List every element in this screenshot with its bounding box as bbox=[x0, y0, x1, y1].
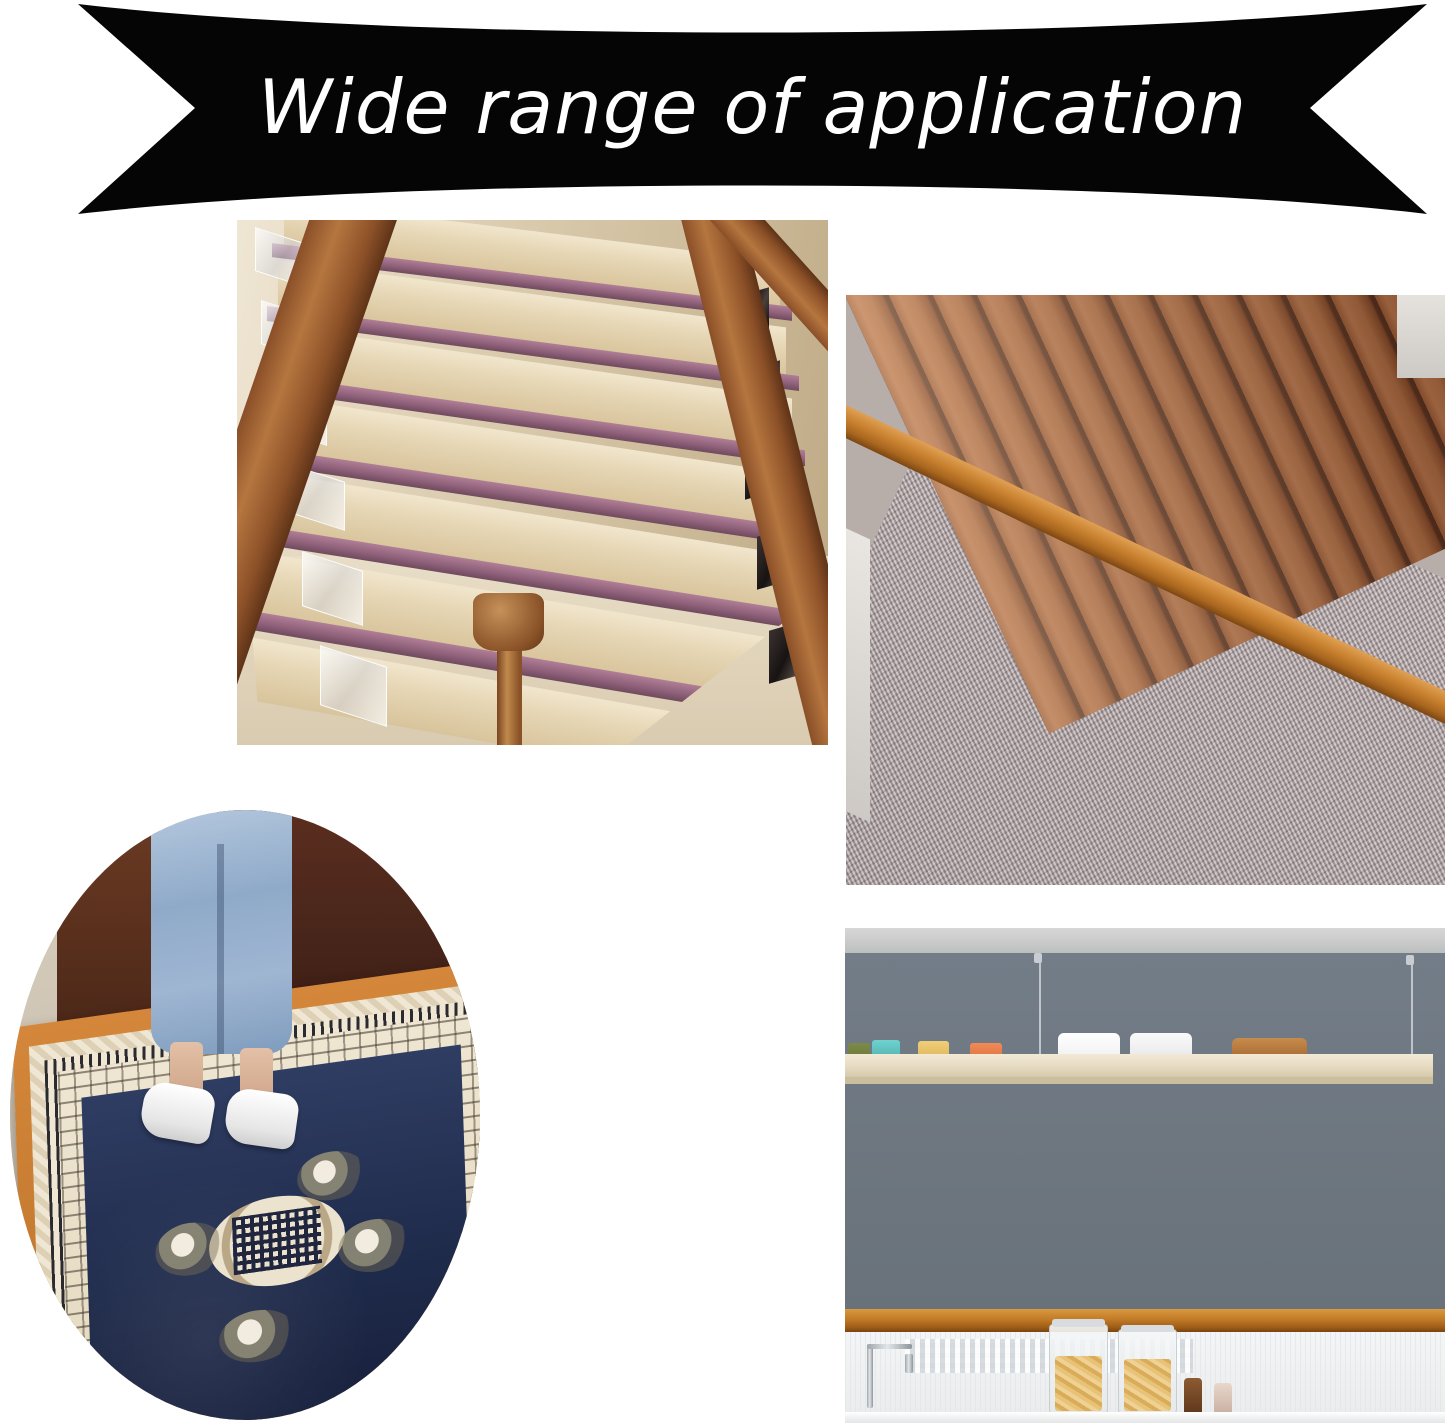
panel-kitchen: Kitchen bbox=[845, 928, 1445, 1423]
faucet-arm bbox=[867, 1344, 912, 1349]
rug-center-medallion bbox=[208, 1187, 347, 1295]
floor-wall-right bbox=[1397, 295, 1445, 378]
shelf-wire-cap bbox=[1034, 953, 1042, 963]
pepper-mill-dark bbox=[1184, 1378, 1202, 1415]
faucet-handle bbox=[905, 1354, 913, 1374]
banner: Wide range of application bbox=[60, 0, 1445, 218]
panel-carpet: carpet bbox=[10, 810, 480, 1420]
rug-floral-motif bbox=[338, 1215, 412, 1277]
kitchen-shelf-edge bbox=[845, 1077, 1433, 1085]
person-jeans bbox=[151, 810, 292, 1054]
faucet-spout bbox=[867, 1344, 874, 1408]
kitchen-wall bbox=[845, 953, 1445, 1309]
pasta-jar-right bbox=[1118, 1329, 1177, 1415]
banner-ribbon-shape bbox=[60, 0, 1445, 218]
jar-pasta-contents bbox=[1124, 1359, 1172, 1411]
jar-lid bbox=[1121, 1325, 1173, 1333]
rug-floral-motif bbox=[297, 1147, 367, 1205]
kitchen-countertop bbox=[845, 1412, 1445, 1423]
kitchen-floating-shelf bbox=[845, 1054, 1433, 1077]
kitchen-ceiling bbox=[845, 928, 1445, 953]
newel-cap bbox=[473, 593, 544, 651]
floor-wall-left bbox=[846, 523, 870, 823]
panel-staircase: staircase bbox=[237, 220, 828, 745]
rug-floral-motif bbox=[155, 1218, 225, 1279]
rug-floral-motif bbox=[219, 1305, 297, 1367]
shelf-wire-cap bbox=[1406, 955, 1414, 965]
jar-pasta-contents bbox=[1055, 1356, 1103, 1411]
panel-floor: Floor bbox=[846, 295, 1445, 885]
jar-lid bbox=[1052, 1319, 1104, 1327]
salt-mill-light bbox=[1214, 1383, 1232, 1415]
pasta-jar-left bbox=[1049, 1324, 1108, 1415]
